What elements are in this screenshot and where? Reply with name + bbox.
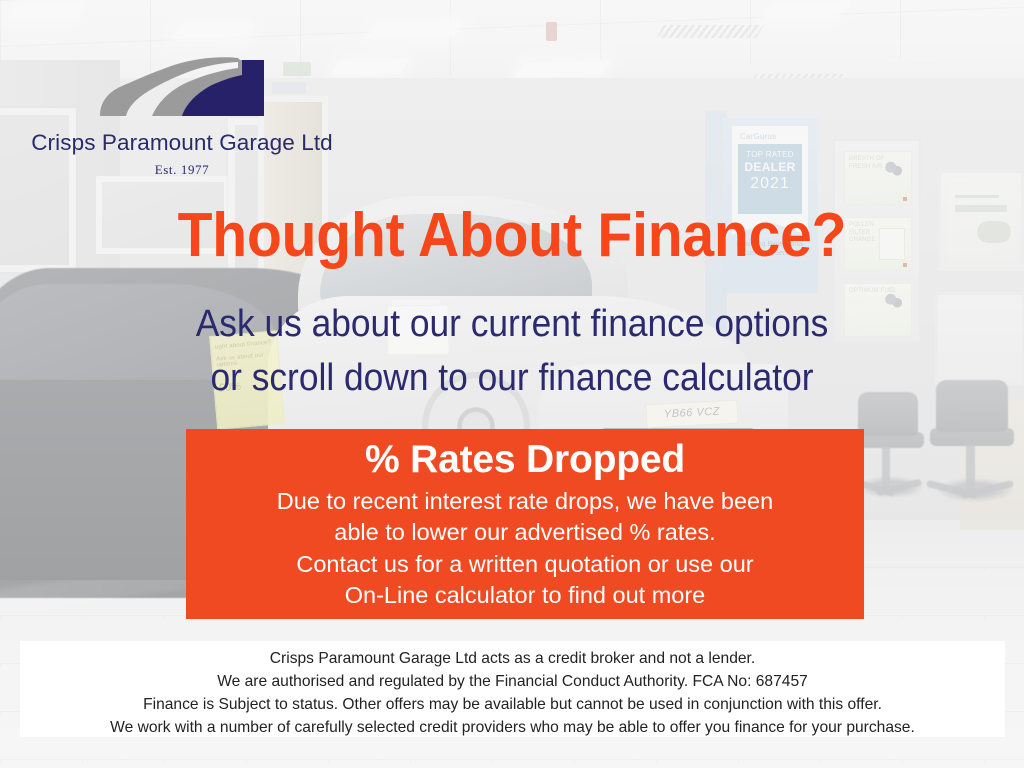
disclaimer-line-3: Finance is Subject to status. Other offe…: [20, 694, 1005, 717]
disclaimer-line-4: We work with a number of carefully selec…: [20, 717, 1005, 740]
disclaimer-line-2: We are authorised and regulated by the F…: [20, 671, 1005, 694]
poster-content: Crisps Paramount Garage Ltd Est. 1977 Th…: [0, 0, 1024, 768]
subheadline-line-2: or scroll down to our finance calculator: [36, 352, 988, 406]
finance-promo-poster: CarGurus TOP RATED DEALER 2021 Providing…: [0, 0, 1024, 768]
banner-body-line-3: Contact us for a written quotation or us…: [186, 549, 864, 580]
rates-dropped-banner: % Rates Dropped Due to recent interest r…: [186, 429, 864, 619]
company-established: Est. 1977: [22, 162, 342, 178]
subheadline-line-1: Ask us about our current finance options: [36, 298, 988, 352]
banner-body: Due to recent interest rate drops, we ha…: [186, 486, 864, 611]
banner-title: % Rates Dropped: [186, 437, 864, 483]
car-silhouette-logo-icon: [92, 52, 272, 124]
page-subheadline: Ask us about our current finance options…: [36, 298, 988, 406]
company-logo-block: Crisps Paramount Garage Ltd Est. 1977: [22, 52, 342, 178]
banner-body-line-2: able to lower our advertised % rates.: [186, 517, 864, 548]
disclaimer-line-1: Crisps Paramount Garage Ltd acts as a cr…: [20, 648, 1005, 671]
banner-body-line-4: On-Line calculator to find out more: [186, 580, 864, 611]
legal-disclaimer: Crisps Paramount Garage Ltd acts as a cr…: [20, 641, 1005, 737]
page-headline: Thought About Finance?: [41, 205, 983, 267]
company-name: Crisps Paramount Garage Ltd: [22, 130, 342, 156]
banner-body-line-1: Due to recent interest rate drops, we ha…: [186, 486, 864, 517]
